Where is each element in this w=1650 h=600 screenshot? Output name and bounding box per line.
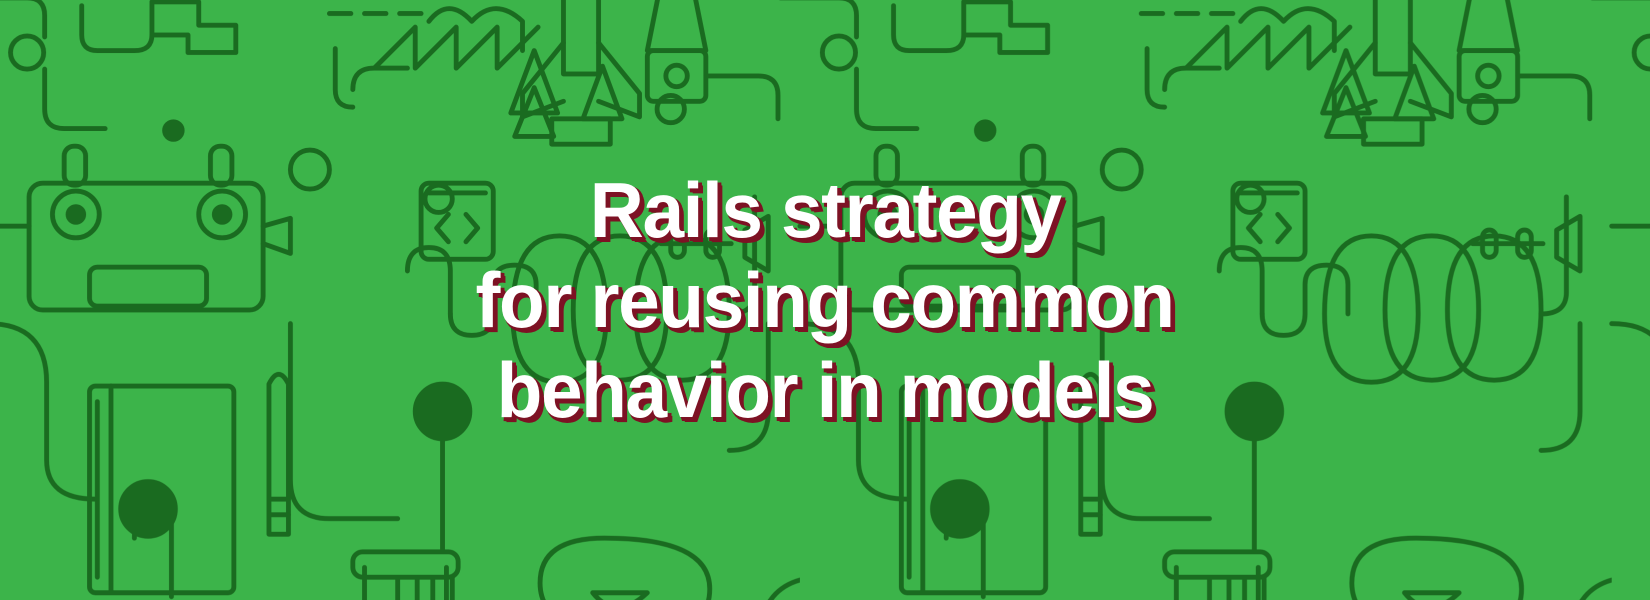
title-line-1: Rails strategy [590, 166, 1061, 254]
title-line-2: for reusing common [476, 256, 1174, 344]
hero-banner: Rails strategy for reusing common behavi… [0, 0, 1650, 600]
title-line-3: behavior in models [497, 346, 1153, 434]
banner-title: Rails strategy for reusing common behavi… [0, 0, 1650, 600]
